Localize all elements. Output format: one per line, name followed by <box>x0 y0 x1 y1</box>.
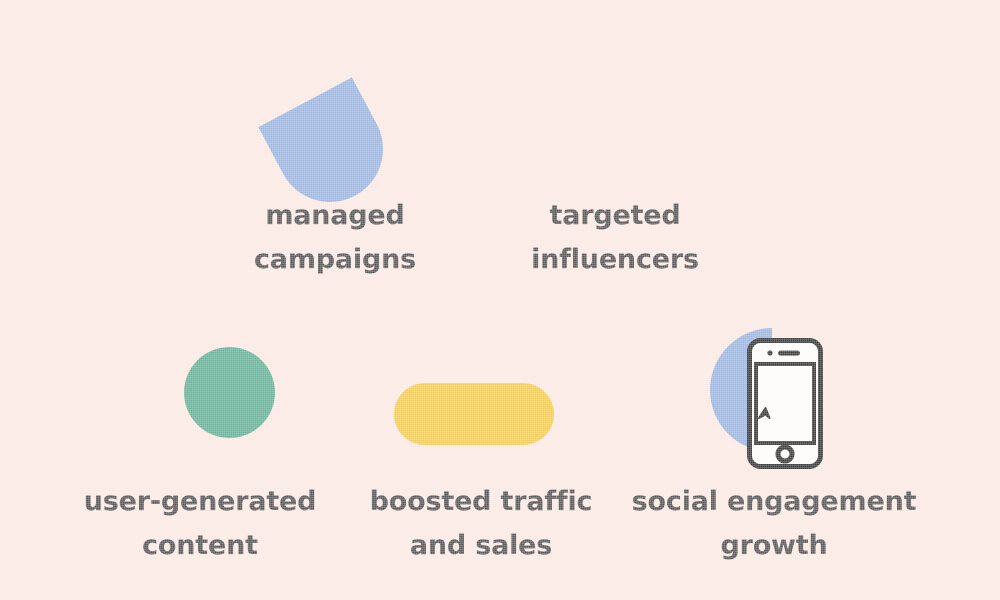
smartphone-icon <box>747 338 823 469</box>
speaker-bar-icon <box>778 351 800 356</box>
label-targeted-influencers: targeted influencers <box>490 194 740 282</box>
green-circle-shape <box>184 347 275 438</box>
label-managed-campaigns: managed campaigns <box>210 194 460 282</box>
camera-dot-icon <box>767 350 772 355</box>
label-user-generated-content: user-generated content <box>60 480 340 568</box>
label-boosted-traffic-and-sales: boosted traffic and sales <box>350 480 612 568</box>
label-social-engagement-growth: social engagement growth <box>600 480 948 568</box>
yellow-pill-shape <box>394 383 554 445</box>
phone-screen <box>756 364 814 443</box>
infographic-canvas: managed campaigns targeted influencers u… <box>0 0 1000 600</box>
